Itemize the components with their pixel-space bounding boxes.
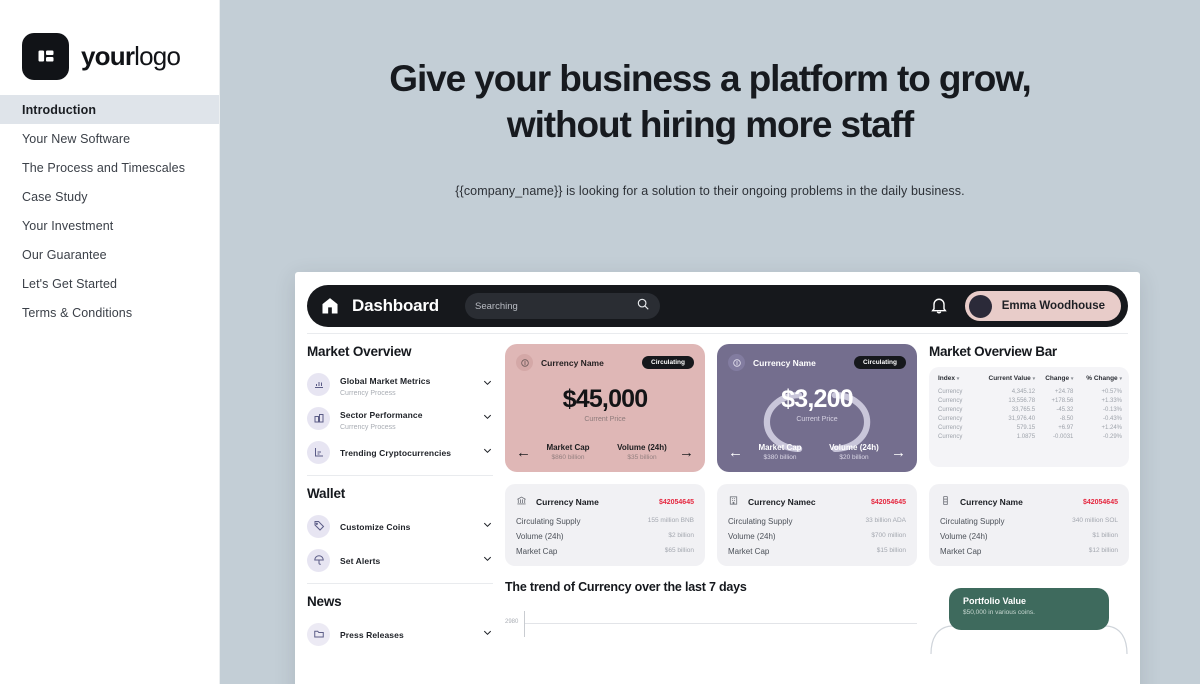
card-stat-label: Market Cap <box>531 443 605 452</box>
row-value: $65 billion <box>665 547 694 556</box>
sidebar-item-case-study[interactable]: Case Study <box>0 182 219 211</box>
cell-percent-change: -0.13% <box>1073 405 1122 414</box>
bar-chart-icon <box>307 373 330 396</box>
arrow-left-icon[interactable]: ← <box>516 444 531 461</box>
cell-change: +178.56 <box>1035 396 1073 405</box>
small-card-row: Market Cap $15 billion <box>728 547 906 556</box>
list-item-label: Press Releases <box>340 630 404 640</box>
row-key: Circulating Supply <box>516 517 580 526</box>
small-card-price: $42054645 <box>1083 499 1118 506</box>
card-stat-volume: Volume (24h) $35 billion <box>605 443 679 461</box>
cell-index: Currency <box>936 387 972 396</box>
card-stat-label: Volume (24h) <box>817 443 891 452</box>
row-key: Market Cap <box>940 547 981 556</box>
cell-index: Currency <box>936 405 972 414</box>
dashboard-sidebar: Market Overview Global Market Metrics Cu… <box>307 344 493 651</box>
card-stat-label: Market Cap <box>743 443 817 452</box>
chevron-down-icon[interactable] <box>482 443 493 461</box>
sidebar-nav: Introduction Your New Software The Proce… <box>0 95 219 327</box>
bank-icon <box>516 493 527 511</box>
row-key: Volume (24h) <box>516 532 564 541</box>
chart-plot-area: 2980 <box>505 611 917 637</box>
small-currency-card-1[interactable]: Currency Name $42054645 Circulating Supp… <box>505 484 705 566</box>
page-title-line2: without hiring more staff <box>507 104 913 145</box>
currency-card-purple[interactable]: Currency Name Circulating $3,200 Current… <box>717 344 917 472</box>
sidebar-item-your-new-software[interactable]: Your New Software <box>0 124 219 153</box>
list-item-label: Sector Performance <box>340 410 423 420</box>
folder-icon <box>307 623 330 646</box>
column-header-index[interactable]: Index ▾ <box>936 375 972 387</box>
small-cards-row: Currency Name $42054645 Circulating Supp… <box>505 484 1129 566</box>
chart-title: The trend of Currency over the last 7 da… <box>505 580 917 594</box>
card-header: Currency Name Circulating <box>516 354 694 371</box>
column-header-percent-change[interactable]: % Change ▾ <box>1073 375 1122 387</box>
page-title-line1: Give your business a platform to grow, <box>389 58 1030 99</box>
market-overview-table-wrap: Index ▾ Current Value ▾ Change ▾ % Chang… <box>929 367 1129 467</box>
sidebar-item-the-process-and-timescales[interactable]: The Process and Timescales <box>0 153 219 182</box>
cell-change: -45.32 <box>1035 405 1073 414</box>
card-stat-market-cap: Market Cap $380 billion <box>743 443 817 461</box>
column-label: Current Value <box>989 375 1031 382</box>
card-price: $3,200 <box>728 385 906 414</box>
card-price-label: Current Price <box>728 416 906 423</box>
logo-text-light: logo <box>134 41 180 71</box>
search-placeholder: Searching <box>475 301 518 312</box>
layout-icon <box>22 33 69 80</box>
card-currency-name: Currency Name <box>541 358 604 368</box>
list-item-trending-cryptocurrencies[interactable]: Trending Cryptocurrencies <box>307 435 493 469</box>
sidebar-item-our-guarantee[interactable]: Our Guarantee <box>0 240 219 269</box>
cell-current-value: 1.0875 <box>972 432 1035 441</box>
section-divider <box>307 583 493 584</box>
dashboard-header: Dashboard Searching Emma Woodhouse <box>307 285 1128 327</box>
row-key: Market Cap <box>728 547 769 556</box>
building-chart-icon <box>307 407 330 430</box>
chevron-down-icon[interactable] <box>482 551 493 569</box>
row-key: Circulating Supply <box>940 517 1004 526</box>
building-icon <box>728 493 739 511</box>
coin-icon <box>516 354 533 371</box>
list-item-sublabel: Currency Process <box>340 424 472 431</box>
cell-percent-change: +1.33% <box>1073 396 1122 405</box>
table-row[interactable]: Currency 13,556.78 +178.56 +1.33% <box>936 396 1122 405</box>
small-currency-card-2[interactable]: Currency Namec $42054645 Circulating Sup… <box>717 484 917 566</box>
cell-percent-change: +0.57% <box>1073 387 1122 396</box>
list-item-label: Global Market Metrics <box>340 376 430 386</box>
card-stat-value: $860 billion <box>531 454 605 461</box>
small-card-row: Market Cap $12 billion <box>940 547 1118 556</box>
search-icon[interactable] <box>636 297 650 316</box>
arrow-right-icon[interactable]: → <box>679 444 694 461</box>
card-price: $45,000 <box>516 385 694 414</box>
cell-index: Currency <box>936 423 972 432</box>
column-header-current-value[interactable]: Current Value ▾ <box>972 375 1035 387</box>
list-item-sublabel: Currency Process <box>340 390 472 397</box>
cell-current-value: 579.15 <box>972 423 1035 432</box>
logo[interactable]: yourlogo <box>0 0 219 90</box>
database-icon <box>940 493 951 511</box>
table-row[interactable]: Currency 33,765.5 -45.32 -0.13% <box>936 405 1122 414</box>
list-item-texts: Sector Performance Currency Process <box>340 405 472 431</box>
list-item-texts: Global Market Metrics Currency Process <box>340 371 472 397</box>
dashboard-main: Currency Name Circulating $45,000 Curren… <box>505 344 1129 651</box>
sidebar-item-introduction[interactable]: Introduction <box>0 95 219 124</box>
arrow-right-icon[interactable]: → <box>891 444 906 461</box>
list-item-press-releases[interactable]: Press Releases <box>307 617 493 651</box>
cell-index: Currency <box>936 432 972 441</box>
portfolio-subtitle: $50,000 in various coins. <box>963 609 1095 616</box>
arrow-left-icon[interactable]: ← <box>728 444 743 461</box>
market-overview-bar-title: Market Overview Bar <box>929 344 1129 359</box>
small-card-row: Circulating Supply 33 billion ADA <box>728 517 906 526</box>
card-stat-value: $380 billion <box>743 454 817 461</box>
status-badge: Circulating <box>642 356 694 369</box>
cell-current-value: 13,556.78 <box>972 396 1035 405</box>
list-item-texts: Press Releases <box>340 625 472 643</box>
table-row[interactable]: Currency 579.15 +6.97 +1.24% <box>936 423 1122 432</box>
x-axis-line <box>525 623 917 624</box>
column-label: % Change <box>1086 375 1117 382</box>
list-item-texts: Customize Coins <box>340 517 472 535</box>
table-row[interactable]: Currency 31,976.40 -8.50 -0.43% <box>936 414 1122 423</box>
small-card-name: Currency Namec <box>748 497 816 507</box>
row-value: $15 billion <box>877 547 906 556</box>
small-card-row: Market Cap $65 billion <box>516 547 694 556</box>
small-card-name: Currency Name <box>536 497 599 507</box>
market-overview-title: Market Overview <box>307 344 493 359</box>
avatar <box>969 295 992 318</box>
table-header-row: Index ▾ Current Value ▾ Change ▾ % Chang… <box>936 375 1122 387</box>
cell-percent-change: +1.24% <box>1073 423 1122 432</box>
market-overview-bar: Market Overview Bar Index ▾ Current Valu… <box>929 344 1129 472</box>
row-value: 340 million SOL <box>1072 517 1118 526</box>
cell-index: Currency <box>936 396 972 405</box>
list-chart-icon <box>307 441 330 464</box>
sidebar-item-label: Let's Get Started <box>22 277 117 291</box>
cell-change: -8.50 <box>1035 414 1073 423</box>
chevron-down-icon: ▾ <box>1033 376 1036 382</box>
trend-chart: The trend of Currency over the last 7 da… <box>505 580 917 637</box>
y-axis-line <box>524 611 525 637</box>
cell-current-value: 31,976.40 <box>972 414 1035 423</box>
page-title: Give your business a platform to grow, w… <box>220 56 1200 148</box>
row-value: $12 billion <box>1089 547 1118 556</box>
sidebar-item-your-investment[interactable]: Your Investment <box>0 211 219 240</box>
row-key: Circulating Supply <box>728 517 792 526</box>
portfolio-card[interactable]: Portfolio Value $50,000 in various coins… <box>949 588 1109 630</box>
chevron-down-icon[interactable] <box>482 625 493 643</box>
currency-card-pink[interactable]: Currency Name Circulating $45,000 Curren… <box>505 344 705 472</box>
cell-change: +24.78 <box>1035 387 1073 396</box>
user-name: Emma Woodhouse <box>1002 300 1105 312</box>
logo-text: yourlogo <box>81 41 180 72</box>
small-card-row: Volume (24h) $2 billion <box>516 532 694 541</box>
row-value: $2 billion <box>668 532 694 541</box>
dashboard-body: Market Overview Global Market Metrics Cu… <box>295 334 1140 651</box>
table-row[interactable]: Currency 4,345.12 +24.78 +0.57% <box>936 387 1122 396</box>
hero-section: Give your business a platform to grow, w… <box>220 0 1200 198</box>
row-key: Volume (24h) <box>940 532 988 541</box>
cell-percent-change: -0.29% <box>1073 432 1122 441</box>
list-item-global-market-metrics[interactable]: Global Market Metrics Currency Process <box>307 367 493 401</box>
row-key: Volume (24h) <box>728 532 776 541</box>
list-item-label: Customize Coins <box>340 522 410 532</box>
sidebar: yourlogo Introduction Your New Software … <box>0 0 220 684</box>
sidebar-item-label: Your Investment <box>22 219 113 233</box>
chevron-down-icon[interactable] <box>482 409 493 427</box>
row-key: Market Cap <box>516 547 557 556</box>
cell-change: +6.97 <box>1035 423 1073 432</box>
small-currency-card-3[interactable]: Currency Name $42054645 Circulating Supp… <box>929 484 1129 566</box>
tag-icon <box>307 515 330 538</box>
chevron-down-icon: ▾ <box>957 376 960 382</box>
card-footer: ← Market Cap $380 billion Volume (24h) $… <box>728 443 906 461</box>
card-currency-name: Currency Name <box>753 358 816 368</box>
card-stat-market-cap: Market Cap $860 billion <box>531 443 605 461</box>
small-card-header: Currency Name $42054645 <box>940 493 1118 511</box>
sidebar-item-terms-and-conditions[interactable]: Terms & Conditions <box>0 298 219 327</box>
list-item-label: Trending Cryptocurrencies <box>340 448 451 458</box>
chevron-down-icon: ▾ <box>1119 376 1122 382</box>
row-value: 33 billion ADA <box>866 517 906 526</box>
card-footer: ← Market Cap $860 billion Volume (24h) $… <box>516 443 694 461</box>
card-price-label: Current Price <box>516 416 694 423</box>
small-card-row: Circulating Supply 155 million BNB <box>516 517 694 526</box>
currency-cards-row: Currency Name Circulating $45,000 Curren… <box>505 344 1129 472</box>
small-card-header: Currency Namec $42054645 <box>728 493 906 511</box>
small-card-name: Currency Name <box>960 497 1023 507</box>
chevron-down-icon: ▾ <box>1071 376 1074 382</box>
list-item-set-alerts[interactable]: Set Alerts <box>307 543 493 577</box>
dashboard-title: Dashboard <box>352 296 439 316</box>
list-item-customize-coins[interactable]: Customize Coins <box>307 509 493 543</box>
small-card-row: Circulating Supply 340 million SOL <box>940 517 1118 526</box>
home-icon[interactable] <box>319 295 341 317</box>
cell-index: Currency <box>936 414 972 423</box>
market-overview-table: Index ▾ Current Value ▾ Change ▾ % Chang… <box>936 375 1122 441</box>
sidebar-item-label: The Process and Timescales <box>22 161 185 175</box>
umbrella-icon <box>307 549 330 572</box>
search-input[interactable]: Searching <box>465 293 660 319</box>
card-stat-label: Volume (24h) <box>605 443 679 452</box>
cell-percent-change: -0.43% <box>1073 414 1122 423</box>
portfolio-title: Portfolio Value <box>963 596 1095 606</box>
chevron-down-icon[interactable] <box>482 375 493 393</box>
chart-section: The trend of Currency over the last 7 da… <box>505 580 1129 637</box>
row-value: 155 million BNB <box>648 517 694 526</box>
sidebar-item-label: Introduction <box>22 103 96 117</box>
cell-current-value: 4,345.12 <box>972 387 1035 396</box>
bell-icon[interactable] <box>929 295 949 317</box>
row-value: $1 billion <box>1092 532 1118 541</box>
news-title: News <box>307 594 493 609</box>
list-item-label: Set Alerts <box>340 556 380 566</box>
y-axis-tick-label: 2980 <box>505 619 518 625</box>
portfolio-widget: Portfolio Value $50,000 in various coins… <box>929 580 1129 637</box>
small-card-header: Currency Name $42054645 <box>516 493 694 511</box>
table-row[interactable]: Currency 1.0875 -0.0031 -0.29% <box>936 432 1122 441</box>
cell-current-value: 33,765.5 <box>972 405 1035 414</box>
chevron-down-icon[interactable] <box>482 517 493 535</box>
card-stat-value: $20 billion <box>817 454 891 461</box>
sidebar-item-label: Terms & Conditions <box>22 306 132 320</box>
cell-change: -0.0031 <box>1035 432 1073 441</box>
small-card-row: Volume (24h) $1 billion <box>940 532 1118 541</box>
card-stat-volume: Volume (24h) $20 billion <box>817 443 891 461</box>
row-value: $700 million <box>871 532 906 541</box>
status-badge: Circulating <box>854 356 906 369</box>
column-header-change[interactable]: Change ▾ <box>1035 375 1073 387</box>
card-stat-value: $35 billion <box>605 454 679 461</box>
column-label: Change <box>1045 375 1069 382</box>
small-card-row: Volume (24h) $700 million <box>728 532 906 541</box>
sidebar-item-label: Our Guarantee <box>22 248 107 262</box>
list-item-texts: Trending Cryptocurrencies <box>340 443 472 461</box>
small-card-price: $42054645 <box>659 499 694 506</box>
page-subtitle: {{company_name}} is looking for a soluti… <box>220 184 1200 198</box>
sidebar-item-label: Case Study <box>22 190 88 204</box>
user-menu[interactable]: Emma Woodhouse <box>965 291 1121 321</box>
wallet-title: Wallet <box>307 486 493 501</box>
coin-icon <box>728 354 745 371</box>
dashboard-panel: Dashboard Searching Emma Woodhouse Marke… <box>295 272 1140 684</box>
sidebar-item-label: Your New Software <box>22 132 130 146</box>
column-label: Index <box>938 375 955 382</box>
section-divider <box>307 475 493 476</box>
list-item-texts: Set Alerts <box>340 551 472 569</box>
logo-text-bold: your <box>81 41 134 71</box>
sidebar-item-lets-get-started[interactable]: Let's Get Started <box>0 269 219 298</box>
card-header: Currency Name Circulating <box>728 354 906 371</box>
small-card-price: $42054645 <box>871 499 906 506</box>
list-item-sector-performance[interactable]: Sector Performance Currency Process <box>307 401 493 435</box>
